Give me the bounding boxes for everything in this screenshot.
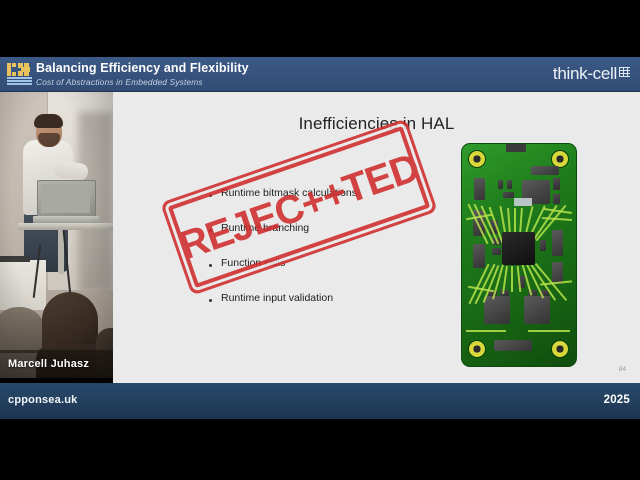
bullet-text: Runtime input validation — [221, 292, 333, 305]
speaker-name: Marcell Juhasz — [8, 358, 89, 370]
pcb-component — [503, 192, 514, 198]
pcb-component — [498, 180, 503, 189]
pcb-pad-row — [514, 198, 532, 206]
conference-website: cpponsea.uk — [8, 394, 77, 406]
pcb-mounting-hole — [468, 150, 486, 168]
logo-blocks — [7, 63, 32, 76]
pcb-trace — [507, 208, 511, 234]
talk-subtitle: Cost of Abstractions in Embedded Systems — [36, 77, 249, 88]
pcb-component — [473, 244, 485, 268]
pcb-component — [553, 194, 560, 204]
letterbox-bottom — [0, 419, 640, 480]
pcb-component — [492, 248, 501, 255]
pcb-component — [484, 296, 510, 324]
pcb-trace — [540, 280, 572, 285]
pcb-microcontroller-chip — [502, 232, 535, 265]
logo-waves — [7, 77, 32, 86]
video-vignette — [0, 92, 113, 378]
pcb-component — [507, 180, 512, 189]
conference-year: 2025 — [604, 394, 630, 406]
pcb-component — [540, 240, 546, 251]
presentation-slide: Inefficiencies in HAL Runtime bitmask ca… — [113, 92, 640, 383]
pcb-component — [553, 178, 560, 190]
pcb-circuit-board-illustration — [452, 140, 584, 368]
pcb-trace — [514, 208, 516, 234]
talk-title: Balancing Efficiency and Flexibility — [36, 61, 249, 75]
pcb-board — [461, 143, 577, 367]
pcb-component — [531, 166, 559, 175]
pcb-component — [474, 178, 485, 200]
pcb-trace — [519, 208, 523, 234]
header-text-group: Balancing Efficiency and Flexibility Cos… — [36, 61, 249, 88]
pcb-mounting-hole — [468, 340, 486, 358]
letterbox-top — [0, 0, 640, 57]
pcb-component — [494, 340, 532, 351]
think-cell-grid-icon — [619, 67, 630, 78]
pcb-connector-notch — [506, 143, 526, 152]
bullet-dot-icon — [209, 299, 212, 302]
sponsor-name: think-cell — [553, 65, 617, 83]
pcb-component — [524, 296, 550, 324]
slide-page-number: 84 — [619, 366, 626, 373]
conference-header-bar: Balancing Efficiency and Flexibility Cos… — [0, 57, 640, 92]
speaker-video-feed: Marcell Juhasz — [0, 92, 113, 378]
pcb-trace — [511, 266, 513, 292]
pcb-component — [552, 230, 563, 256]
sponsor-brand: think-cell — [553, 65, 630, 83]
conference-footer-bar: cpponsea.uk 2025 — [0, 383, 640, 419]
slide-title: Inefficiencies in HAL — [113, 114, 640, 134]
video-player-stage: Balancing Efficiency and Flexibility Cos… — [0, 0, 640, 480]
cpponsea-logo — [7, 63, 32, 87]
pcb-mounting-hole — [551, 340, 569, 358]
pcb-trace — [466, 330, 506, 332]
list-item: Runtime input validation — [209, 292, 439, 305]
pcb-trace — [528, 330, 570, 332]
